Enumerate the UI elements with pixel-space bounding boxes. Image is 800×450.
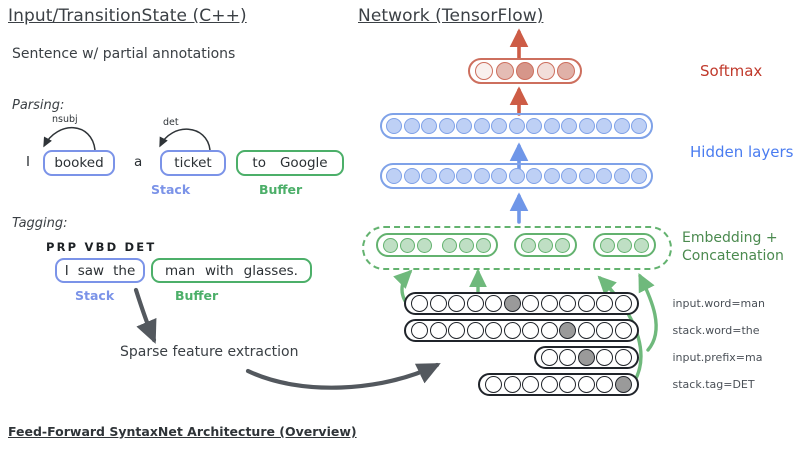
sparse-node <box>541 322 558 339</box>
hidden-node <box>456 168 472 184</box>
tagging-buffer-token-1: with <box>205 263 234 279</box>
hidden-top-row <box>380 113 653 139</box>
sparse-node <box>430 322 447 339</box>
sparse-feature-row: stack.tag=DET <box>404 371 765 398</box>
sparse-vector-0 <box>404 292 639 315</box>
sparse-feature-row: stack.word=the <box>404 317 765 344</box>
parsing-stack-label: Stack <box>151 182 190 197</box>
embedding-group-c <box>593 233 656 257</box>
sparse-feature-label: input.word=man <box>673 297 765 310</box>
left-subtitle: Sentence w/ partial annotations <box>12 46 235 62</box>
hidden-node <box>404 168 420 184</box>
sparse-node <box>578 295 595 312</box>
hidden-node <box>596 168 612 184</box>
sparse-node <box>596 322 613 339</box>
hidden-node <box>614 118 630 134</box>
sparse-feature-label: stack.tag=DET <box>673 378 755 391</box>
sparse-node <box>448 295 465 312</box>
embedding-node <box>538 238 553 253</box>
hidden-node <box>596 118 612 134</box>
sparse-node <box>485 376 502 393</box>
right-section-heading: Network (TensorFlow) <box>358 6 543 26</box>
parsing-stack-box-ticket: ticket <box>160 150 226 176</box>
hidden-node <box>439 168 455 184</box>
sparse-node <box>485 295 502 312</box>
sparse-vector-3 <box>478 373 639 396</box>
parsing-token-I: I <box>26 154 30 170</box>
sparse-node <box>522 376 539 393</box>
parsing-buffer-box: to Google <box>236 150 344 176</box>
sparse-node <box>541 376 558 393</box>
hidden-node <box>456 118 472 134</box>
sparse-node-active <box>559 322 576 339</box>
sparse-node <box>504 322 521 339</box>
sparse-node <box>467 295 484 312</box>
sparse-node <box>596 376 613 393</box>
hidden-node <box>474 168 490 184</box>
hidden-node <box>421 168 437 184</box>
embedding-node <box>521 238 536 253</box>
sparse-node <box>559 295 576 312</box>
hidden-layer-bottom <box>380 163 653 189</box>
sparse-vector-2 <box>534 346 639 369</box>
hidden-node <box>526 118 542 134</box>
sparse-node <box>559 349 576 366</box>
sparse-node <box>615 349 632 366</box>
embedding-segment <box>521 238 570 253</box>
embedding-node <box>600 238 615 253</box>
sparse-node <box>541 295 558 312</box>
label-embedding-line1: Embedding + <box>682 230 784 248</box>
hidden-layer-top <box>380 113 653 139</box>
embedding-node <box>617 238 632 253</box>
hidden-node <box>509 118 525 134</box>
softmax-row <box>468 58 582 84</box>
embedding-node <box>555 238 570 253</box>
hidden-node <box>404 118 420 134</box>
hidden-node <box>526 168 542 184</box>
embedding-group-a <box>376 233 498 257</box>
softmax-node <box>537 62 555 80</box>
hidden-node <box>561 168 577 184</box>
label-embedding-concatenation: Embedding + Concatenation <box>682 230 784 265</box>
hidden-node <box>491 118 507 134</box>
embedding-node <box>634 238 649 253</box>
sparse-node <box>504 376 521 393</box>
hidden-node <box>544 168 560 184</box>
sparse-node <box>615 322 632 339</box>
sparse-feature-row: input.word=man <box>404 290 765 317</box>
hidden-node <box>561 118 577 134</box>
hidden-node <box>386 168 402 184</box>
embedding-node <box>383 238 398 253</box>
hidden-node <box>386 118 402 134</box>
embedding-segment <box>383 238 432 253</box>
tagging-buffer-label: Buffer <box>175 288 218 303</box>
parsing-stack-box-booked: booked <box>43 150 115 176</box>
embedding-node <box>459 238 474 253</box>
sparse-node-active <box>615 376 632 393</box>
softmax-node <box>516 62 534 80</box>
sparse-vector-1 <box>404 319 639 342</box>
softmax-node <box>475 62 493 80</box>
tagging-label: Tagging: <box>12 216 68 231</box>
tagging-buffer-token-2: glasses. <box>244 263 298 279</box>
softmax-node <box>496 62 514 80</box>
embedding-node <box>400 238 415 253</box>
label-embedding-line2: Concatenation <box>682 248 784 266</box>
sparse-node <box>411 295 428 312</box>
tagging-stack-token-0: I <box>65 263 69 279</box>
sparse-node <box>578 376 595 393</box>
sparse-feature-label: stack.word=the <box>673 324 760 337</box>
embedding-groups <box>376 233 656 257</box>
sparse-node <box>559 376 576 393</box>
sparse-node <box>522 295 539 312</box>
tagging-stack-token-2: the <box>113 263 135 279</box>
embedding-node <box>476 238 491 253</box>
sparse-node <box>596 349 613 366</box>
tagging-stack-token-1: saw <box>78 263 104 279</box>
sparse-node <box>430 295 447 312</box>
parsing-token-a: a <box>134 154 142 170</box>
sparse-node <box>541 349 558 366</box>
sparse-node <box>615 295 632 312</box>
tagging-buffer-token-0: man <box>165 263 195 279</box>
parsing-buffer-token-to: to <box>252 155 266 171</box>
hidden-node <box>491 168 507 184</box>
hidden-bottom-row <box>380 163 653 189</box>
sparse-feature-rows: input.word=manstack.word=theinput.prefix… <box>404 290 765 398</box>
sparse-node-active <box>578 349 595 366</box>
hidden-node <box>631 118 647 134</box>
arc-label-nsubj: nsubj <box>52 114 78 125</box>
sparse-node-active <box>504 295 521 312</box>
softmax-node <box>557 62 575 80</box>
label-hidden-layers: Hidden layers <box>690 143 793 161</box>
parsing-label: Parsing: <box>12 98 64 113</box>
embedding-node <box>442 238 457 253</box>
sparse-node <box>467 322 484 339</box>
hidden-node <box>579 168 595 184</box>
tagging-pos-tags: PRP VBD DET <box>46 240 156 254</box>
footer-caption: Feed-Forward SyntaxNet Architecture (Ove… <box>8 424 357 439</box>
embedding-layer <box>376 233 656 257</box>
sparse-node <box>596 295 613 312</box>
left-section-heading: Input/TransitionState (C++) <box>8 6 247 26</box>
sparse-feature-row: input.prefix=ma <box>404 344 765 371</box>
embedding-segment <box>600 238 649 253</box>
hidden-node <box>614 168 630 184</box>
hidden-node <box>439 118 455 134</box>
sparse-node <box>522 322 539 339</box>
arc-label-det: det <box>163 117 179 128</box>
embedding-segment <box>442 238 491 253</box>
tagging-buffer-box: man with glasses. <box>151 258 312 283</box>
softmax-layer <box>468 58 582 84</box>
hidden-node <box>579 118 595 134</box>
sparse-feature-label: input.prefix=ma <box>673 351 763 364</box>
parsing-buffer-token-google: Google <box>280 155 328 171</box>
tagging-stack-box: I saw the <box>55 258 145 283</box>
hidden-node <box>509 168 525 184</box>
hidden-node <box>474 118 490 134</box>
parsing-buffer-label: Buffer <box>259 182 302 197</box>
sparse-feature-extraction-caption: Sparse feature extraction <box>120 344 298 360</box>
label-softmax: Softmax <box>700 62 762 80</box>
hidden-node <box>631 168 647 184</box>
embedding-node <box>417 238 432 253</box>
hidden-node <box>421 118 437 134</box>
sparse-node <box>578 322 595 339</box>
sparse-node <box>411 322 428 339</box>
hidden-node <box>544 118 560 134</box>
diagram-canvas: Input/TransitionState (C++) Sentence w/ … <box>0 0 800 450</box>
sparse-node <box>448 322 465 339</box>
tagging-stack-label: Stack <box>75 288 114 303</box>
sparse-node <box>485 322 502 339</box>
embedding-group-b <box>514 233 577 257</box>
